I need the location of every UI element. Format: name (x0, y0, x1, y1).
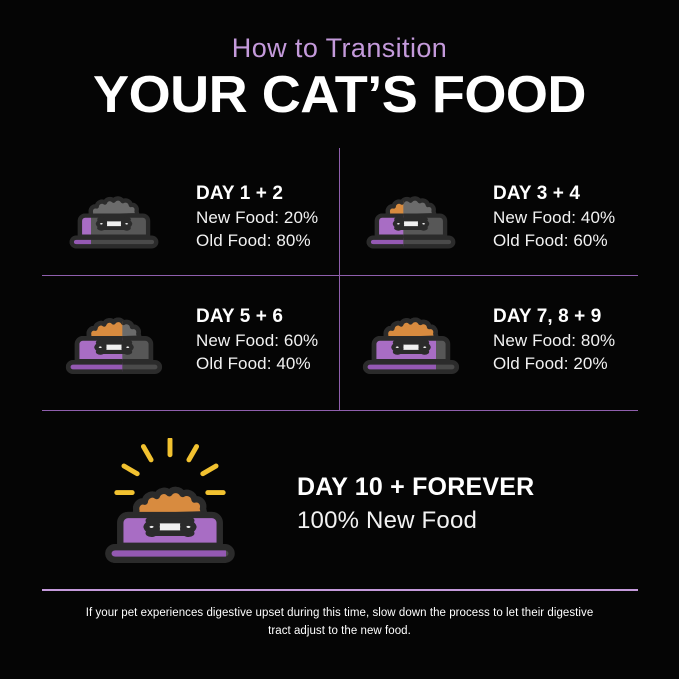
final-day-label: DAY 10 + FOREVER (297, 472, 638, 503)
bowl-group (68, 319, 160, 371)
bowl-slot (42, 302, 186, 380)
step-old-food-line: Old Food: 60% (493, 230, 638, 252)
bone-icon (393, 341, 428, 352)
final-step-card: DAY 10 + FOREVER 100% New Food (42, 432, 638, 576)
step-day-label: DAY 1 + 2 (196, 183, 339, 206)
bowl-slot-final (42, 438, 297, 571)
page-title: YOUR CAT’S FOOD (0, 68, 679, 122)
final-step-copy: DAY 10 + FOREVER 100% New Food (297, 472, 638, 536)
cat-food-bowl-icon (363, 182, 459, 254)
cat-food-bowl-icon (359, 302, 463, 380)
eyebrow-title: How to Transition (0, 34, 679, 62)
final-sub-label: 100% New Food (297, 506, 638, 536)
footer-note: If your pet experiences digestive upset … (80, 605, 599, 641)
step-card-day-7-8-9: DAY 7, 8 + 9 New Food: 80% Old Food: 20% (339, 275, 638, 406)
bowl-group (72, 198, 156, 246)
step-new-food-line: New Food: 40% (493, 207, 638, 229)
step-copy: DAY 5 + 6 New Food: 60% Old Food: 40% (186, 306, 339, 376)
bone-icon (98, 218, 131, 228)
step-new-food-line: New Food: 80% (493, 330, 638, 352)
step-day-label: DAY 3 + 4 (493, 183, 638, 206)
bowl-slot (42, 182, 186, 254)
divider-horizontal-lower (42, 410, 638, 411)
bowl-slot (339, 302, 483, 380)
step-old-food-line: Old Food: 40% (196, 353, 339, 375)
step-old-food-line: Old Food: 20% (493, 353, 638, 375)
step-copy: DAY 1 + 2 New Food: 20% Old Food: 80% (186, 183, 339, 253)
bowl-group (369, 198, 453, 246)
transition-steps-grid: DAY 1 + 2 New Food: 20% Old Food: 80% DA… (42, 160, 638, 406)
step-day-label: DAY 7, 8 + 9 (493, 306, 638, 329)
bowl-group (365, 319, 457, 371)
bowl-slot (339, 182, 483, 254)
header: How to Transition YOUR CAT’S FOOD (0, 34, 679, 122)
step-new-food-line: New Food: 60% (196, 330, 339, 352)
step-day-label: DAY 5 + 6 (196, 306, 339, 329)
bone-icon (146, 519, 194, 534)
step-old-food-line: Old Food: 80% (196, 230, 339, 252)
step-card-day-1-2: DAY 1 + 2 New Food: 20% Old Food: 80% (42, 160, 339, 275)
cat-food-bowl-icon (66, 182, 162, 254)
bone-icon (395, 218, 428, 228)
step-card-day-5-6: DAY 5 + 6 New Food: 60% Old Food: 40% (42, 275, 339, 406)
infographic-canvas: How to Transition YOUR CAT’S FOOD DAY 1 … (0, 0, 679, 679)
step-copy: DAY 3 + 4 New Food: 40% Old Food: 60% (483, 183, 638, 253)
step-card-day-3-4: DAY 3 + 4 New Food: 40% Old Food: 60% (339, 160, 638, 275)
cat-food-bowl-starburst-icon (100, 438, 240, 571)
bone-icon (96, 341, 131, 352)
divider-horizontal-footer (42, 589, 638, 591)
cat-food-bowl-icon (62, 302, 166, 380)
step-new-food-line: New Food: 20% (196, 207, 339, 229)
step-copy: DAY 7, 8 + 9 New Food: 80% Old Food: 20% (483, 306, 638, 376)
bowl-group (108, 489, 231, 559)
